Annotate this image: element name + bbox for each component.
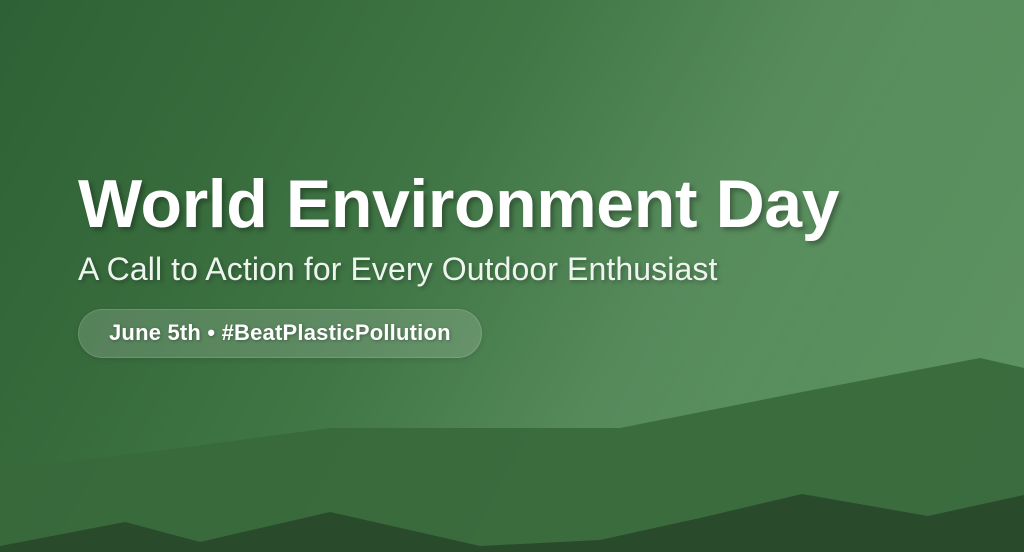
front-mountain-ridge bbox=[0, 494, 1024, 552]
world-environment-day-banner: World Environment Day A Call to Action f… bbox=[0, 0, 1024, 552]
banner-content: World Environment Day A Call to Action f… bbox=[78, 170, 958, 358]
mid-mountain-ridge bbox=[0, 358, 1024, 552]
page-title: World Environment Day bbox=[78, 170, 958, 238]
date-hashtag-badge: June 5th • #BeatPlasticPollution bbox=[78, 309, 482, 358]
page-subtitle: A Call to Action for Every Outdoor Enthu… bbox=[78, 252, 958, 287]
